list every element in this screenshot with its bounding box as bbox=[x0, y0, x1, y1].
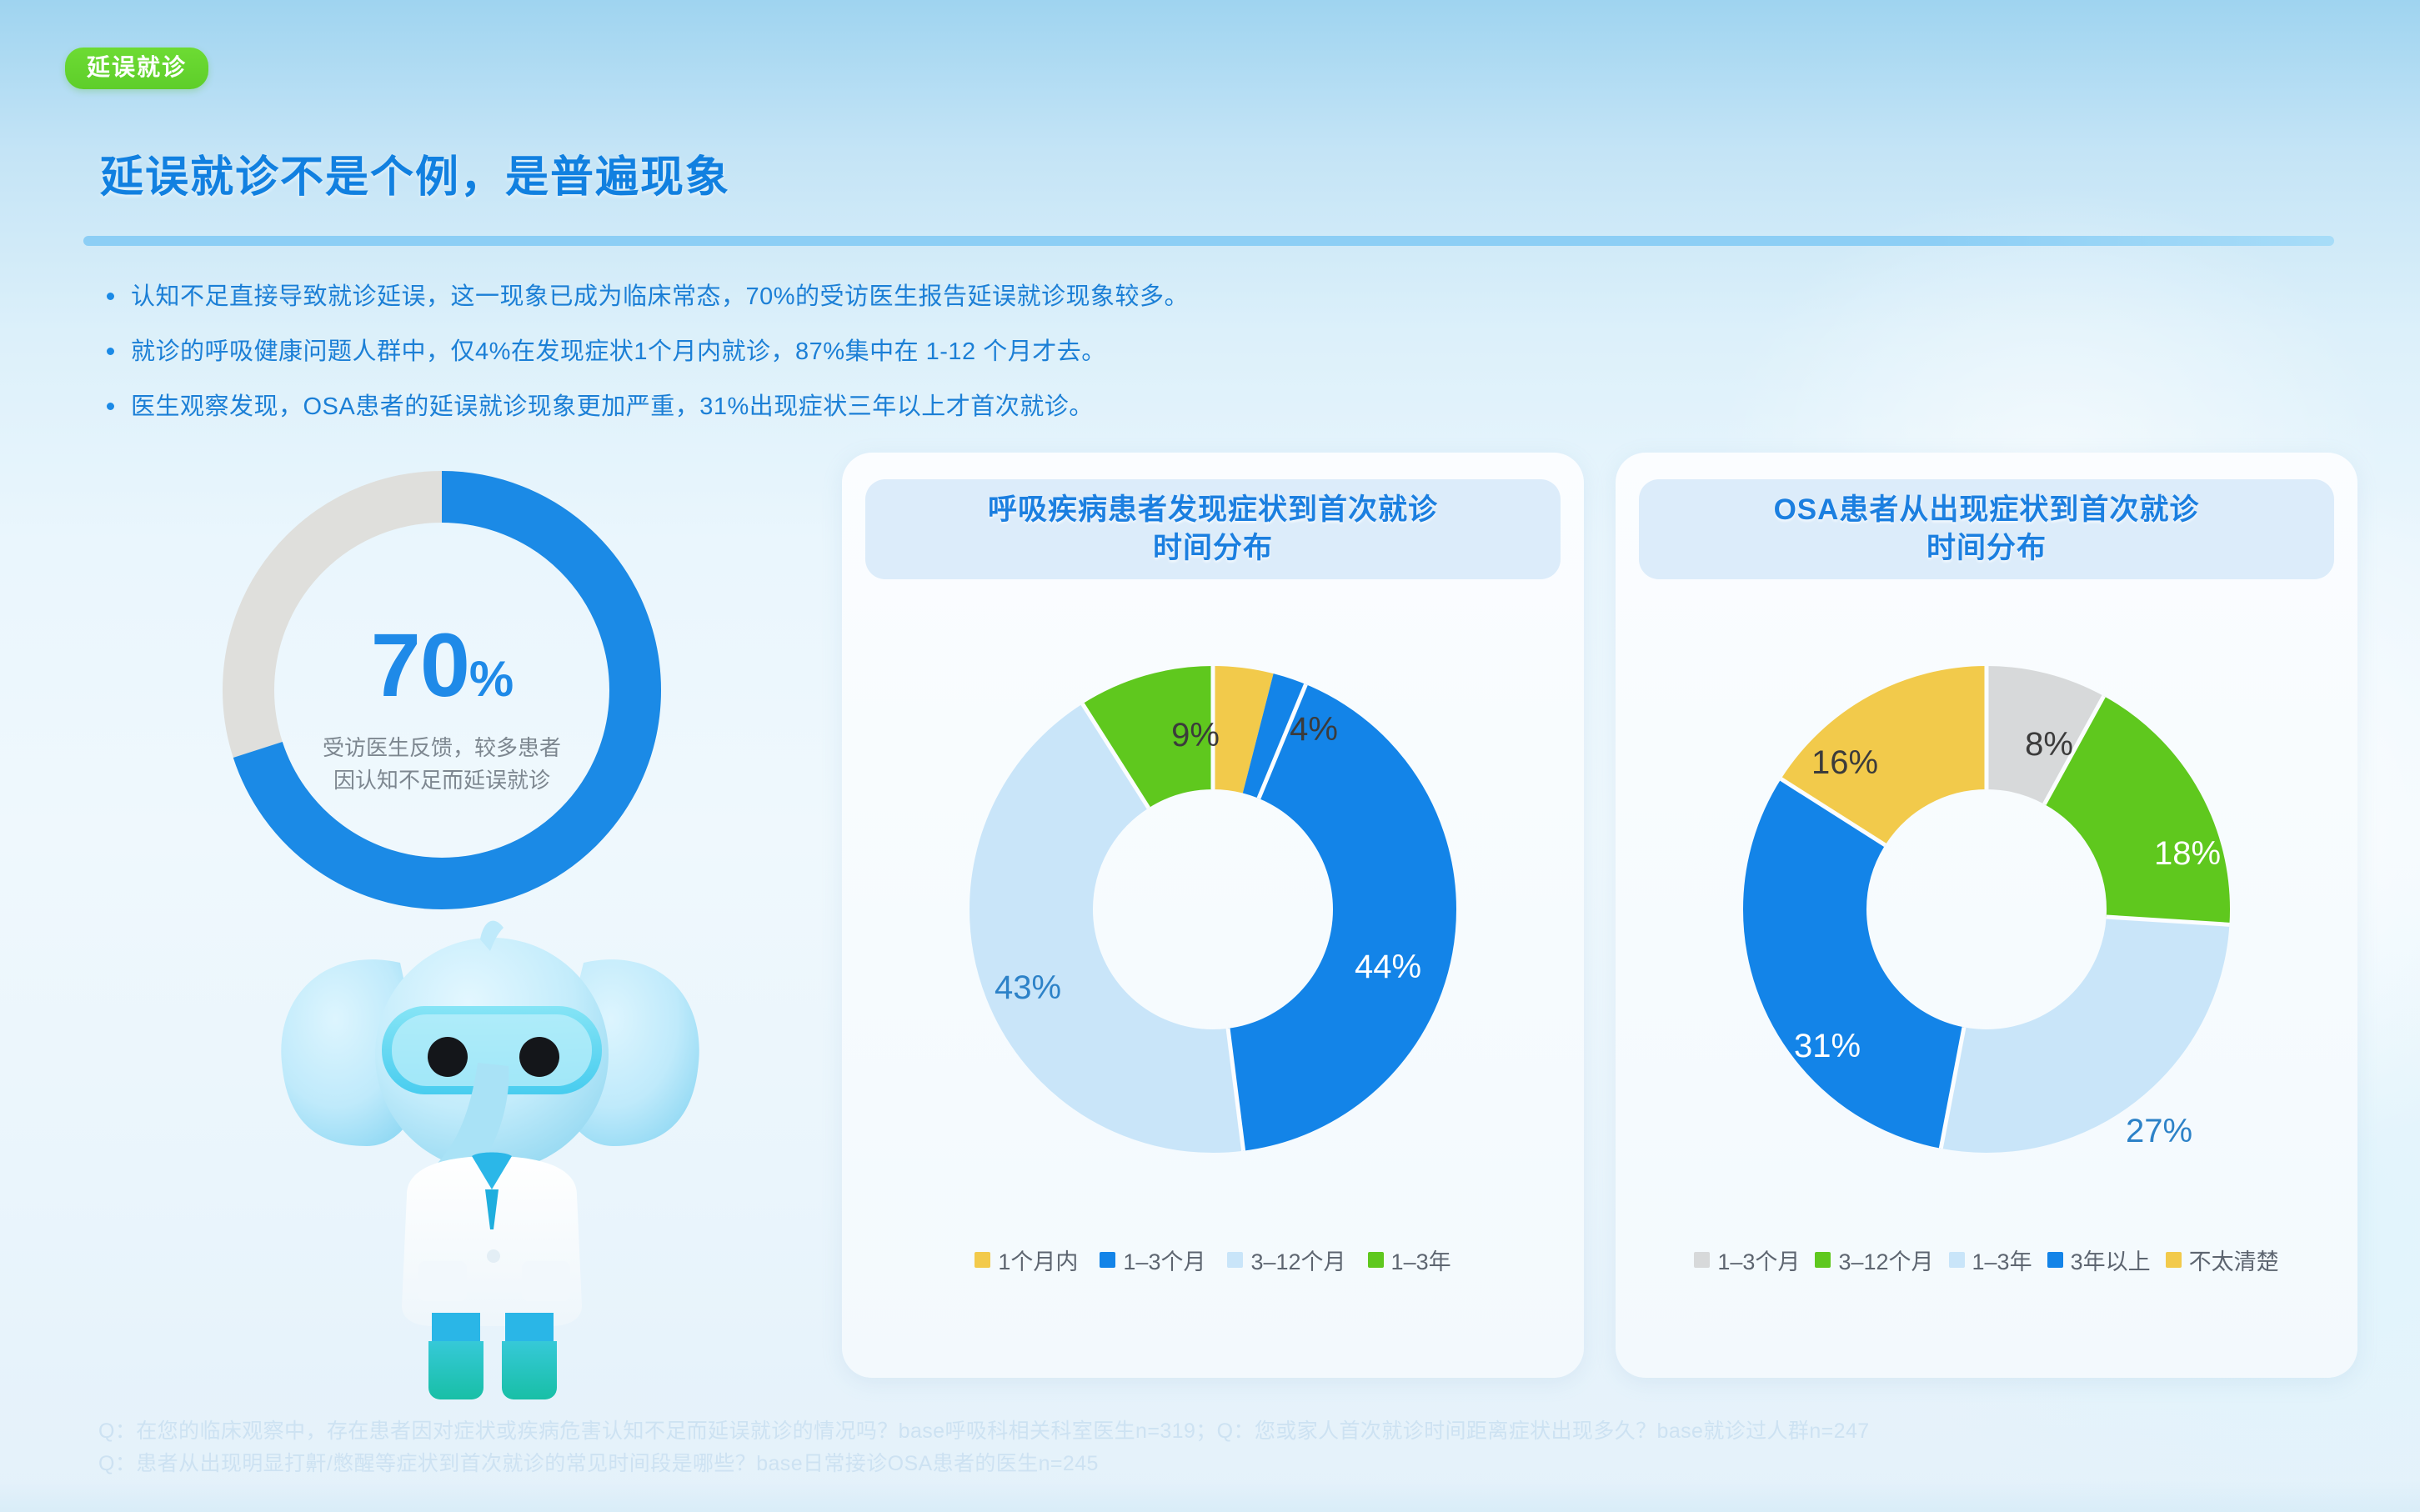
bottom-gradient-strip bbox=[0, 1480, 2420, 1512]
slice-label-4: 4% bbox=[1290, 711, 1338, 748]
legend-label: 1–3个月 bbox=[1717, 1244, 1800, 1276]
elephant-doctor-mascot-icon bbox=[275, 896, 709, 1413]
left-stat-caption-line2: 因认知不足而延误就诊 bbox=[267, 764, 617, 797]
donut-chart-respiratory: 4% 9% 44% 43% bbox=[842, 619, 1584, 1228]
bullet-dot-icon bbox=[107, 293, 114, 300]
legend-swatch bbox=[1949, 1252, 1965, 1268]
legend-label: 1个月内 bbox=[998, 1244, 1078, 1276]
legend-item[interactable]: 3年以上 bbox=[2047, 1244, 2151, 1276]
legend-swatch bbox=[975, 1252, 990, 1268]
legend-swatch bbox=[1100, 1252, 1115, 1268]
card-title-line1: OSA患者从出现症状到首次就诊 bbox=[1774, 491, 2200, 529]
card-osa-distribution: OSA患者从出现症状到首次就诊 时间分布 bbox=[1616, 453, 2357, 1378]
list-item: 就诊的呼吸健康问题人群中，仅4%在发现症状1个月内就诊，87%集中在 1-12 … bbox=[107, 334, 1591, 369]
legend-swatch bbox=[1227, 1252, 1243, 1268]
list-item: 医生观察发现，OSA患者的延误就诊现象更加严重，31%出现症状三年以上才首次就诊… bbox=[107, 389, 1591, 424]
legend-item[interactable]: 1–3年 bbox=[1949, 1244, 2032, 1276]
slice-label-44: 44% bbox=[1355, 949, 1421, 985]
bullet-list: 认知不足直接导致就诊延误，这一现象已成为临床常态，70%的受访医生报告延误就诊现… bbox=[107, 279, 1591, 444]
legend-label: 不太清楚 bbox=[2189, 1244, 2279, 1276]
left-stat-center: 70% 受访医生反馈，较多患者 因认知不足而延误就诊 bbox=[267, 620, 617, 797]
slice-label-31: 31% bbox=[1794, 1028, 1861, 1064]
legend-label: 1–3年 bbox=[1391, 1244, 1451, 1276]
legend-swatch bbox=[2047, 1252, 2063, 1268]
left-stat-caption-line1: 受访医生反馈，较多患者 bbox=[267, 732, 617, 764]
footnote-line: Q：在您的临床观察中，存在患者因对症状或疾病危害认知不足而延误就诊的情况吗？ba… bbox=[98, 1415, 2349, 1448]
donut-chart-osa: 8% 18% 27% 31% 16% bbox=[1616, 619, 2357, 1228]
legend-respiratory: 1个月内 1–3个月 3–12个月 1–3年 bbox=[842, 1244, 1584, 1276]
legend-item[interactable]: 3–12个月 bbox=[1815, 1244, 1933, 1276]
footnotes: Q：在您的临床观察中，存在患者因对症状或疾病危害认知不足而延误就诊的情况吗？ba… bbox=[98, 1415, 2349, 1480]
legend-item[interactable]: 3–12个月 bbox=[1227, 1244, 1345, 1276]
slice-label-18: 18% bbox=[2154, 835, 2221, 872]
list-item: 认知不足直接导致就诊延误，这一现象已成为临床常态，70%的受访医生报告延误就诊现… bbox=[107, 279, 1591, 314]
page-title: 延误就诊不是个例，是普遍现象 bbox=[100, 142, 730, 204]
legend-swatch bbox=[1815, 1252, 1831, 1268]
bullet-text: 就诊的呼吸健康问题人群中，仅4%在发现症状1个月内就诊，87%集中在 1-12 … bbox=[131, 334, 1106, 369]
card-title-line2: 时间分布 bbox=[1774, 529, 2200, 568]
legend-item[interactable]: 不太清楚 bbox=[2166, 1244, 2279, 1276]
legend-label: 3年以上 bbox=[2071, 1244, 2151, 1276]
legend-swatch bbox=[2166, 1252, 2182, 1268]
bullet-dot-icon bbox=[107, 348, 114, 355]
legend-label: 1–3个月 bbox=[1123, 1244, 1205, 1276]
card-header: OSA患者从出现症状到首次就诊 时间分布 bbox=[1639, 479, 2334, 579]
left-stat-caption: 受访医生反馈，较多患者 因认知不足而延误就诊 bbox=[267, 732, 617, 797]
left-stat-donut-chart: 70% 受访医生反馈，较多患者 因认知不足而延误就诊 bbox=[167, 465, 717, 915]
card-title-line1: 呼吸疾病患者发现症状到首次就诊 bbox=[988, 491, 1438, 529]
legend-item[interactable]: 1个月内 bbox=[975, 1244, 1078, 1276]
footnote-line: Q：患者从出现明显打鼾/憋醒等症状到首次就诊的常见时间段是哪些？base日常接诊… bbox=[98, 1448, 2349, 1480]
card-title-line2: 时间分布 bbox=[988, 529, 1438, 568]
legend-label: 3–12个月 bbox=[1838, 1244, 1933, 1276]
legend-item[interactable]: 1–3年 bbox=[1368, 1244, 1451, 1276]
donut-svg: 4% 9% 44% 43% bbox=[842, 619, 1584, 1228]
legend-label: 3–12个月 bbox=[1250, 1244, 1345, 1276]
slice-label-27: 27% bbox=[2126, 1113, 2192, 1149]
title-divider bbox=[83, 236, 2334, 246]
donut-svg: 8% 18% 27% 31% 16% bbox=[1616, 619, 2357, 1228]
slice-label-16: 16% bbox=[1811, 744, 1878, 781]
legend-item[interactable]: 1–3个月 bbox=[1100, 1244, 1205, 1276]
bullet-text: 认知不足直接导致就诊延误，这一现象已成为临床常态，70%的受访医生报告延误就诊现… bbox=[131, 279, 1189, 314]
bullet-dot-icon bbox=[107, 403, 114, 410]
slice-label-8: 8% bbox=[2025, 726, 2073, 763]
slice-label-43: 43% bbox=[995, 969, 1061, 1006]
left-stat-value: 70% bbox=[267, 620, 617, 710]
legend-swatch bbox=[1368, 1252, 1384, 1268]
card-header: 呼吸疾病患者发现症状到首次就诊 时间分布 bbox=[865, 479, 1561, 579]
legend-osa: 1–3个月 3–12个月 1–3年 3年以上 不太清楚 bbox=[1616, 1244, 2357, 1276]
card-respiratory-distribution: 呼吸疾病患者发现症状到首次就诊 时间分布 bbox=[842, 453, 1584, 1378]
legend-item[interactable]: 1–3个月 bbox=[1694, 1244, 1800, 1276]
section-tag: 延误就诊 bbox=[65, 48, 208, 89]
card-title: OSA患者从出现症状到首次就诊 时间分布 bbox=[1774, 491, 2200, 568]
card-title: 呼吸疾病患者发现症状到首次就诊 时间分布 bbox=[988, 491, 1438, 568]
slice-label-9: 9% bbox=[1171, 717, 1220, 753]
legend-label: 1–3年 bbox=[1972, 1244, 2032, 1276]
legend-swatch bbox=[1694, 1252, 1710, 1268]
bullet-text: 医生观察发现，OSA患者的延误就诊现象更加严重，31%出现症状三年以上才首次就诊… bbox=[131, 389, 1094, 424]
